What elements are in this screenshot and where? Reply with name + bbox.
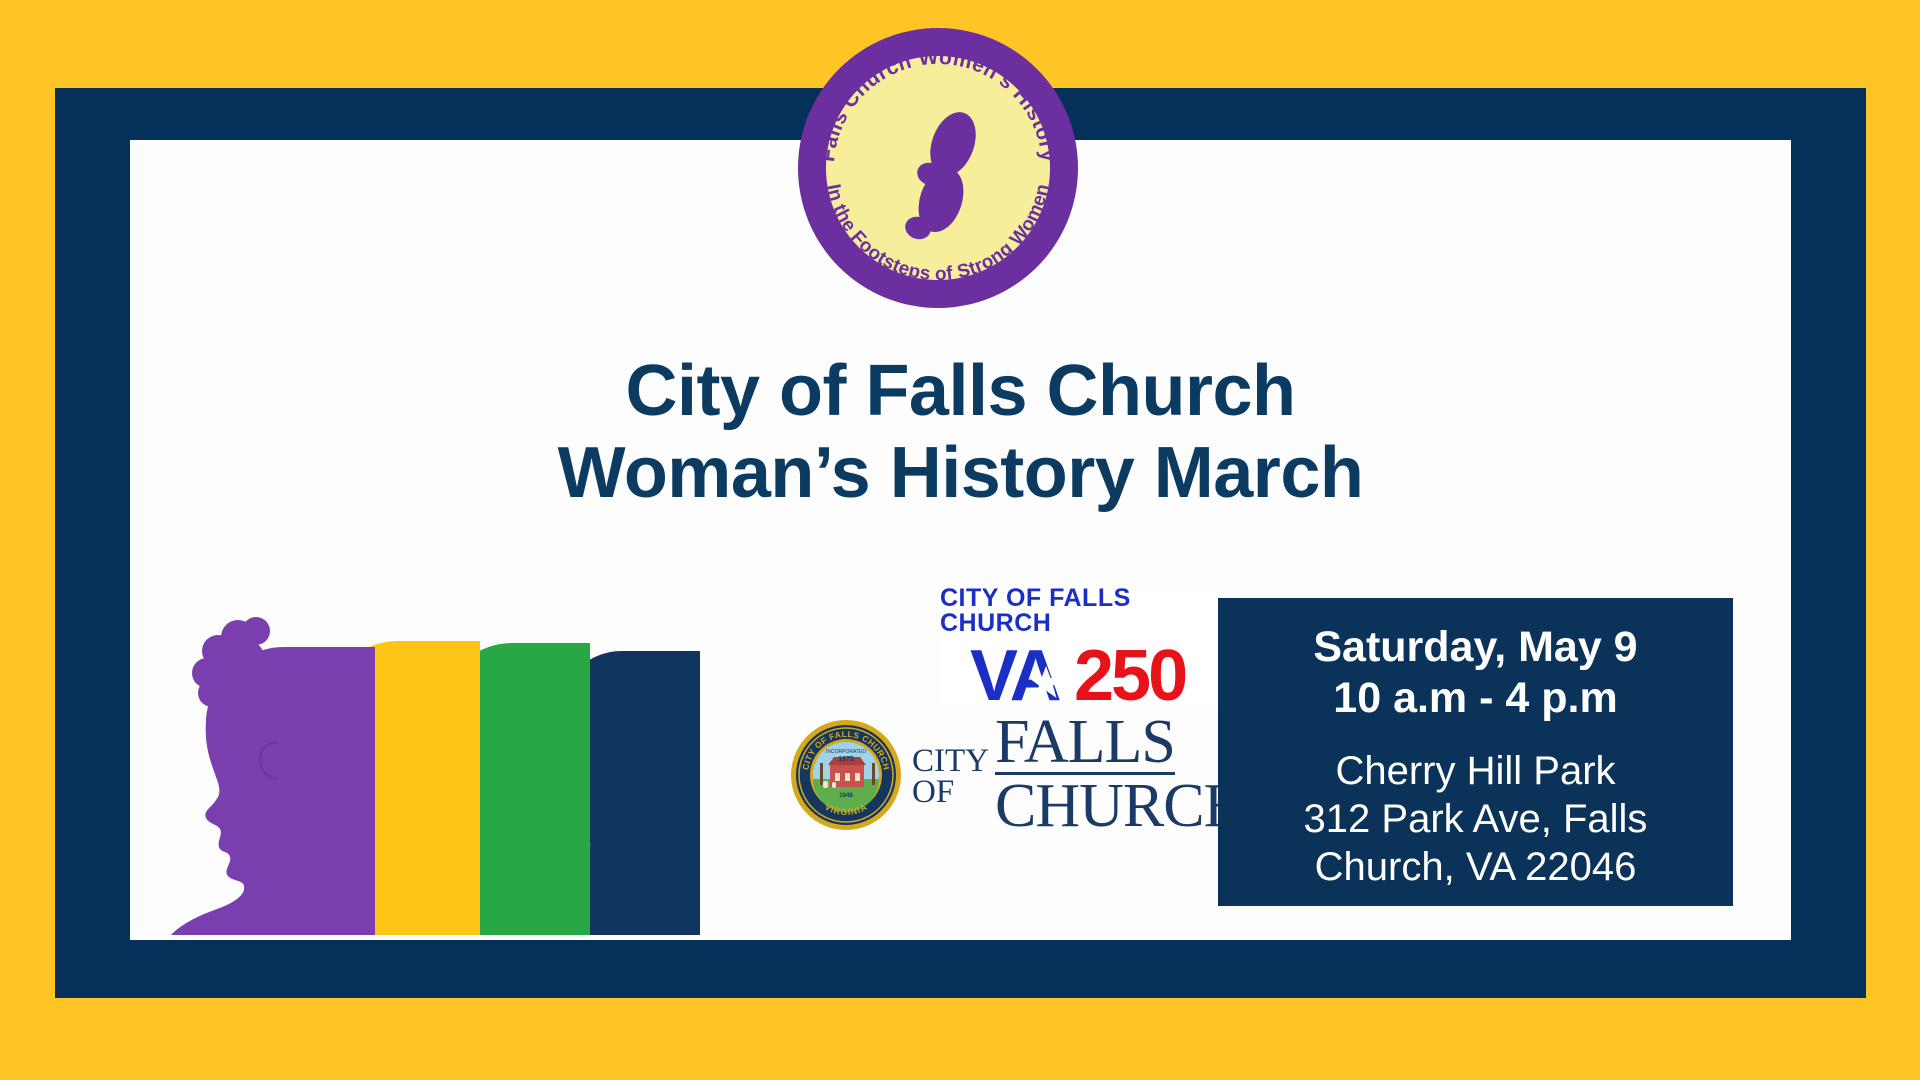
event-poster: Falls Church Women’s History In the Foot… xyxy=(0,0,1920,1080)
seal-year-1948: 1948 xyxy=(839,793,853,799)
event-date: Saturday, May 9 xyxy=(1218,622,1733,673)
silhouette-purple xyxy=(160,617,375,935)
wordmark-church: CHURCH xyxy=(995,779,1247,835)
poster-content-row: CITY OF FALLS CHURCH VA 250 xyxy=(130,580,1791,940)
va250-top-line: CITY OF FALLS CHURCH xyxy=(940,586,1240,636)
page-title: City of Falls Church Woman’s History Mar… xyxy=(130,350,1791,514)
womens-history-badge: Falls Church Women’s History In the Foot… xyxy=(798,28,1078,308)
falls-church-wordmark: CITY OF FALLS CHURCH xyxy=(912,715,1247,835)
address-line-2: Church, VA 22046 xyxy=(1218,843,1733,891)
va250-mark: VA 250 xyxy=(970,638,1210,710)
va250-logo: CITY OF FALLS CHURCH VA 250 xyxy=(940,590,1240,705)
partner-logos: CITY OF FALLS CHURCH VA 250 xyxy=(790,580,1200,940)
va250-250-text: 250 xyxy=(1074,638,1186,710)
women-silhouettes-illustration xyxy=(160,595,760,935)
seal-year-1875: 1875 xyxy=(838,756,854,763)
event-details-box: Saturday, May 9 10 a.m - 4 p.m Cherry Hi… xyxy=(1218,598,1733,906)
venue-name: Cherry Hill Park xyxy=(1218,747,1733,795)
seal-incorporated-text: INCORPORATED xyxy=(826,749,866,755)
city-of-falls-church-logo: INCORPORATED 1875 1948 CITY OF FALLS CHU… xyxy=(790,710,1200,840)
wordmark-falls-church: FALLS CHURCH xyxy=(995,715,1247,835)
wordmark-city-of: CITY OF xyxy=(912,742,989,809)
address-line-1: 312 Park Ave, Falls xyxy=(1218,795,1733,843)
event-address: Cherry Hill Park 312 Park Ave, Falls Chu… xyxy=(1218,747,1733,891)
wordmark-falls: FALLS xyxy=(995,715,1175,775)
city-seal-icon: INCORPORATED 1875 1948 CITY OF FALLS CHU… xyxy=(790,719,902,831)
title-line-1: City of Falls Church xyxy=(130,350,1791,432)
title-line-2: Woman’s History March xyxy=(130,432,1791,514)
event-time: 10 a.m - 4 p.m xyxy=(1218,673,1733,724)
wordmark-city: CITY xyxy=(912,746,989,777)
wordmark-of: OF xyxy=(912,777,954,808)
